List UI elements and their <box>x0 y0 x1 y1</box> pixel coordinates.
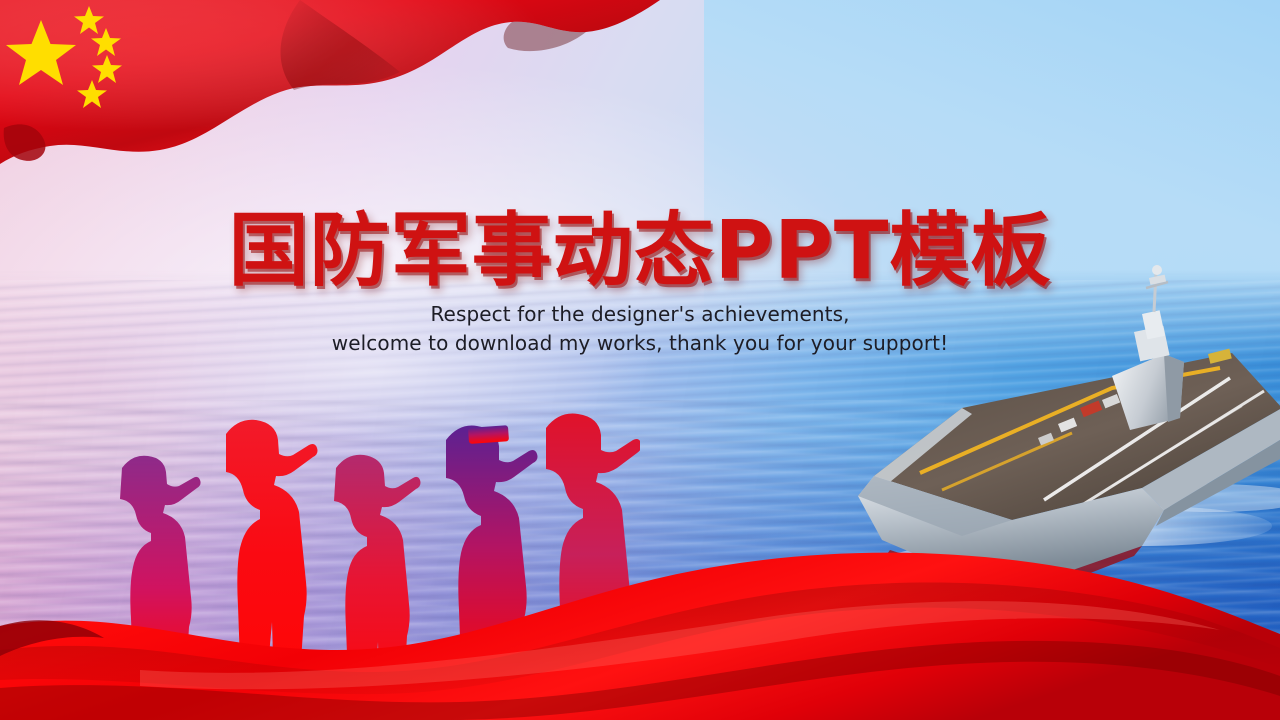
presentation-cover-slide: 国防军事动态PPT模板 Respect for the designer's a… <box>0 0 1280 720</box>
subtitle-line-2: welcome to download my works, thank you … <box>0 329 1280 358</box>
china-flag-graphic <box>0 0 680 175</box>
subtitle-line-1: Respect for the designer's achievements, <box>0 300 1280 329</box>
red-ribbon-wave <box>0 530 1280 720</box>
page-title: 国防军事动态PPT模板 <box>0 186 1280 302</box>
subtitle-block: Respect for the designer's achievements,… <box>0 300 1280 358</box>
